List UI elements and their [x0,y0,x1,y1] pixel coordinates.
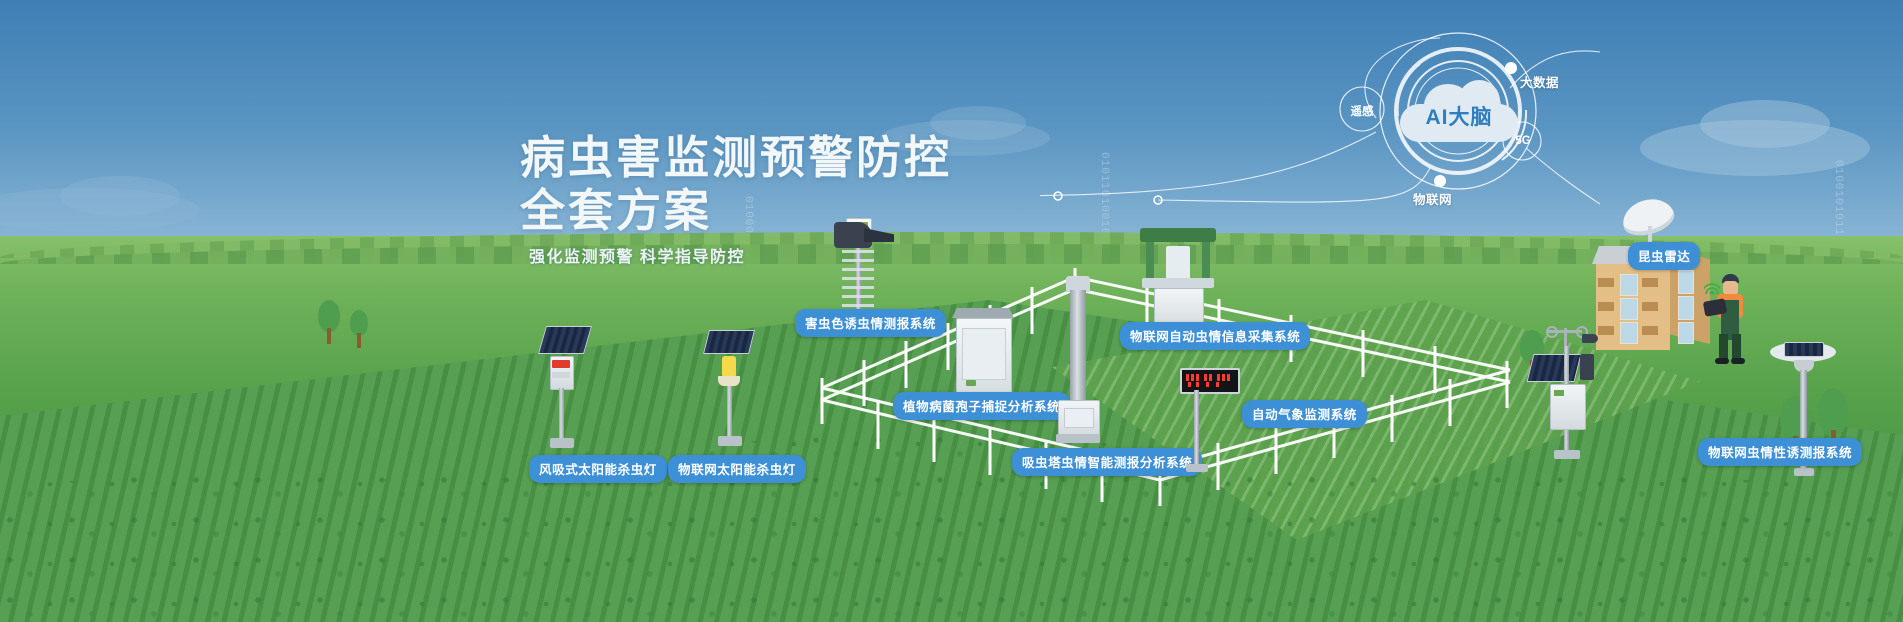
badge-insect-radar[interactable]: 昆虫雷达 [1628,242,1700,270]
badge-spore-capture[interactable]: 植物病菌孢子捕捉分析系统 [893,392,1070,420]
equipment-spore-capture [946,308,1020,402]
equipment-suction-tower [1056,276,1100,456]
badge-pest-color-trap[interactable]: 害虫色诱虫情测报系统 [795,309,946,337]
badge-iot-auto-pest-collect[interactable]: 物联网自动虫情信息采集系统 [1120,322,1310,350]
equipment-trap-canopy [834,222,894,262]
dish-mast [1648,226,1652,242]
badge-auto-weather[interactable]: 自动气象监测系统 [1242,400,1367,428]
led-board-base [1186,464,1208,472]
node-label-remote-sensing: 遥感 [1342,103,1382,119]
node-label-iot: 物联网 [1413,189,1452,208]
worker-figure [1700,272,1760,364]
equipment-iot-solar-lamp [700,330,762,448]
ai-brain-label: AI大脑 [1404,101,1514,131]
equipment-auto-weather-station [1524,328,1614,464]
led-board-pole [1194,390,1199,466]
equipment-wind-suction-solar-lamp [528,326,592,450]
badge-iot-pheromone[interactable]: 物联网虫情性诱测报系统 [1698,438,1862,466]
node-label-5g: 5G [1503,135,1543,147]
wifi-icon [1704,280,1720,294]
led-display-board [1180,368,1240,394]
title-line-1: 病虫害监测预警防控 [520,131,952,184]
badge-iot-solar-lamp[interactable]: 物联网太阳能杀虫灯 [668,455,806,483]
page-subtitle: 强化监测预警 科学指导防控 [529,243,745,267]
banner-scene: 01000101101110010 01011010010110100 0100… [0,0,1903,622]
node-label-bigdata: 大数据 [1520,72,1559,91]
badge-wind-suction-solar-lamp[interactable]: 风吸式太阳能杀虫灯 [529,455,667,483]
badge-suction-tower[interactable]: 吸虫塔虫情智能测报分析系统 [1012,448,1202,476]
